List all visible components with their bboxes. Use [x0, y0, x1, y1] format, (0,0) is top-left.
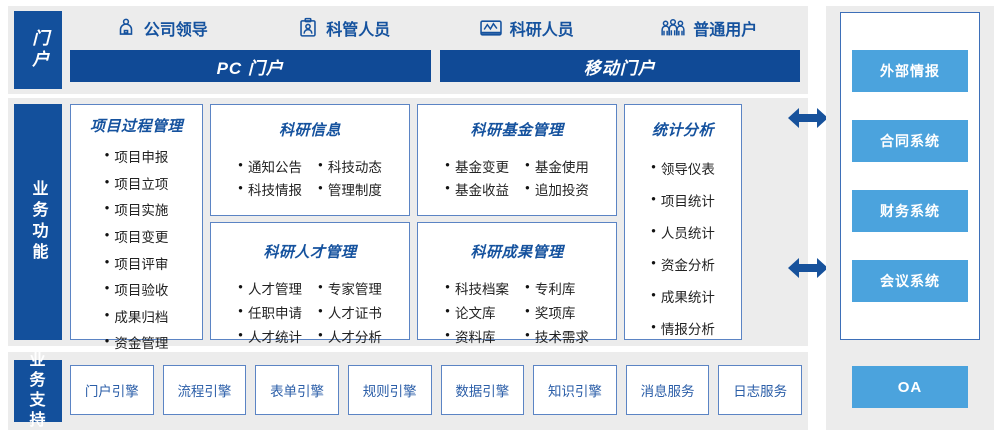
engine-portal[interactable]: 门户引擎 — [70, 365, 154, 415]
card-research-talent-management[interactable]: 科研人才管理 人才管理 任职申请 人才统计 专家管理 人才证书 人才分析 — [210, 222, 410, 340]
list-item[interactable]: 追加投资 — [525, 179, 589, 199]
external-system-oa[interactable]: OA — [852, 366, 968, 408]
card-title: 科研人才管理 — [263, 241, 356, 262]
engine-workflow[interactable]: 流程引擎 — [163, 365, 247, 415]
role-general-user-label: 普通用户 — [693, 16, 757, 40]
external-system-meeting[interactable]: 会议系统 — [852, 260, 968, 302]
external-system-finance[interactable]: 财务系统 — [852, 190, 968, 232]
double-arrow-icon — [786, 105, 830, 131]
research-admin-icon — [297, 17, 319, 39]
list-item[interactable]: 项目评审 — [105, 253, 169, 273]
company-leader-icon — [115, 17, 137, 39]
list-item[interactable]: 项目申报 — [105, 146, 169, 166]
list-item[interactable]: 项目验收 — [105, 279, 169, 299]
list-item[interactable]: 项目实施 — [105, 199, 169, 219]
card-bullets: 基金变更 基金收益 基金使用 追加投资 — [445, 154, 589, 200]
card-title: 科研基金管理 — [470, 119, 563, 140]
list-item[interactable]: 科技档案 — [445, 278, 509, 298]
general-user-icon — [660, 17, 686, 39]
list-item[interactable]: 成果归档 — [105, 306, 169, 326]
portal-section-label: 门户 — [14, 11, 62, 89]
list-item[interactable]: 资金管理 — [105, 332, 169, 352]
card-title: 科研信息 — [279, 119, 341, 140]
card-bullets: 领导仪表 项目统计 人员统计 资金分析 成果统计 情报分析 — [651, 152, 715, 344]
role-researcher-label: 科研人员 — [510, 16, 574, 40]
card-statistical-analysis[interactable]: 统计分析 领导仪表 项目统计 人员统计 资金分析 成果统计 情报分析 — [624, 104, 742, 340]
bullet-column: 项目申报 项目立项 项目实施 项目变更 项目评审 项目验收 成果归档 资金管理 … — [105, 143, 169, 382]
business-functions-grid: 项目过程管理 项目申报 项目立项 项目实施 项目变更 项目评审 项目验收 成果归… — [70, 104, 805, 340]
list-item[interactable]: 资金分析 — [651, 254, 715, 274]
list-item[interactable]: 技术需求 — [525, 326, 589, 346]
business-functions-label-text: 业务功能 — [27, 180, 48, 264]
bullet-column: 通知公告 科技情报 — [238, 154, 302, 200]
list-item[interactable]: 人才证书 — [318, 302, 382, 322]
role-company-leader[interactable]: 公司领导 — [70, 16, 253, 40]
service-log[interactable]: 日志服务 — [718, 365, 802, 415]
engine-rule[interactable]: 规则引擎 — [348, 365, 432, 415]
list-item[interactable]: 科技动态 — [318, 156, 382, 176]
external-system-contract[interactable]: 合同系统 — [852, 120, 968, 162]
list-item[interactable]: 论文库 — [445, 302, 509, 322]
list-item[interactable]: 领导仪表 — [651, 158, 715, 178]
list-item[interactable]: 人才管理 — [238, 278, 302, 298]
list-item[interactable]: 专利库 — [525, 278, 589, 298]
bullet-column: 基金变更 基金收益 — [445, 154, 509, 200]
bullet-column: 基金使用 追加投资 — [525, 154, 589, 200]
business-functions-label: 业务功能 — [14, 104, 62, 340]
bullet-column: 科技档案 论文库 资料库 — [445, 276, 509, 348]
engine-knowledge[interactable]: 知识引擎 — [533, 365, 617, 415]
card-title: 统计分析 — [652, 119, 714, 140]
bullet-column: 科技动态 管理制度 — [318, 154, 382, 200]
portal-bar-mobile[interactable]: 移动门户 — [440, 50, 801, 82]
engine-data[interactable]: 数据引擎 — [441, 365, 525, 415]
list-item[interactable]: 情报分析 — [651, 318, 715, 338]
external-systems-box: 外部情报 合同系统 财务系统 会议系统 — [840, 12, 980, 340]
double-arrow-top — [786, 105, 830, 131]
bullet-column: 专利库 奖项库 技术需求 — [525, 276, 589, 348]
list-item[interactable]: 成果统计 — [651, 286, 715, 306]
list-item[interactable]: 项目变更 — [105, 226, 169, 246]
portal-bars-row: PC 门户 移动门户 — [70, 50, 800, 82]
list-item[interactable]: 通知公告 — [238, 156, 302, 176]
role-company-leader-label: 公司领导 — [144, 16, 208, 40]
list-item[interactable]: 管理制度 — [318, 179, 382, 199]
bullet-column: 人才管理 任职申请 人才统计 — [238, 276, 302, 348]
list-item[interactable]: 项目立项 — [105, 173, 169, 193]
engine-form[interactable]: 表单引擎 — [255, 365, 339, 415]
portal-section-label-text: 门户 — [27, 29, 49, 71]
role-general-user[interactable]: 普通用户 — [618, 16, 801, 40]
business-support-engines-row: 门户引擎 流程引擎 表单引擎 规则引擎 数据引擎 知识引擎 消息服务 日志服务 — [70, 365, 802, 415]
list-item[interactable]: 基金使用 — [525, 156, 589, 176]
card-title: 项目过程管理 — [90, 115, 183, 136]
list-item[interactable]: 人才分析 — [318, 326, 382, 346]
list-item[interactable]: 专家管理 — [318, 278, 382, 298]
card-research-information[interactable]: 科研信息 通知公告 科技情报 科技动态 管理制度 — [210, 104, 410, 216]
card-research-achievement-management[interactable]: 科研成果管理 科技档案 论文库 资料库 专利库 奖项库 技术需求 — [417, 222, 617, 340]
card-bullets: 人才管理 任职申请 人才统计 专家管理 人才证书 人才分析 — [238, 276, 382, 348]
card-research-fund-management[interactable]: 科研基金管理 基金变更 基金收益 基金使用 追加投资 — [417, 104, 617, 216]
list-item[interactable]: 科技情报 — [238, 179, 302, 199]
list-item[interactable]: 奖项库 — [525, 302, 589, 322]
card-title: 科研成果管理 — [470, 241, 563, 262]
architecture-diagram: 门户 公司领导 科管人员 — [0, 0, 1000, 436]
service-message[interactable]: 消息服务 — [626, 365, 710, 415]
external-system-intelligence[interactable]: 外部情报 — [852, 50, 968, 92]
double-arrow-bottom — [786, 255, 830, 281]
portal-bar-pc[interactable]: PC 门户 — [70, 50, 431, 82]
business-support-label: 业务支持 — [14, 360, 62, 422]
list-item[interactable]: 人员统计 — [651, 222, 715, 242]
list-item[interactable]: 任职申请 — [238, 302, 302, 322]
portal-roles-row: 公司领导 科管人员 科研人员 — [70, 12, 800, 44]
card-bullets: 通知公告 科技情报 科技动态 管理制度 — [238, 154, 382, 200]
double-arrow-icon — [786, 255, 830, 281]
list-item[interactable]: 人才统计 — [238, 326, 302, 346]
list-item[interactable]: 资料库 — [445, 326, 509, 346]
list-item[interactable]: 基金收益 — [445, 179, 509, 199]
card-project-process-management[interactable]: 项目过程管理 项目申报 项目立项 项目实施 项目变更 项目评审 项目验收 成果归… — [70, 104, 203, 340]
card-bullets: 项目申报 项目立项 项目实施 项目变更 项目评审 项目验收 成果归档 资金管理 … — [105, 143, 169, 382]
researcher-icon — [479, 17, 503, 39]
business-support-label-text: 业务支持 — [22, 351, 54, 431]
role-research-admin-label: 科管人员 — [326, 16, 390, 40]
list-item[interactable]: 项目统计 — [651, 190, 715, 210]
list-item[interactable]: 基金变更 — [445, 156, 509, 176]
role-researcher[interactable]: 科研人员 — [435, 16, 618, 40]
bullet-column: 专家管理 人才证书 人才分析 — [318, 276, 382, 348]
card-bullets: 科技档案 论文库 资料库 专利库 奖项库 技术需求 — [445, 276, 589, 348]
bullet-column: 领导仪表 项目统计 人员统计 资金分析 成果统计 情报分析 — [651, 152, 715, 344]
role-research-admin[interactable]: 科管人员 — [253, 16, 436, 40]
